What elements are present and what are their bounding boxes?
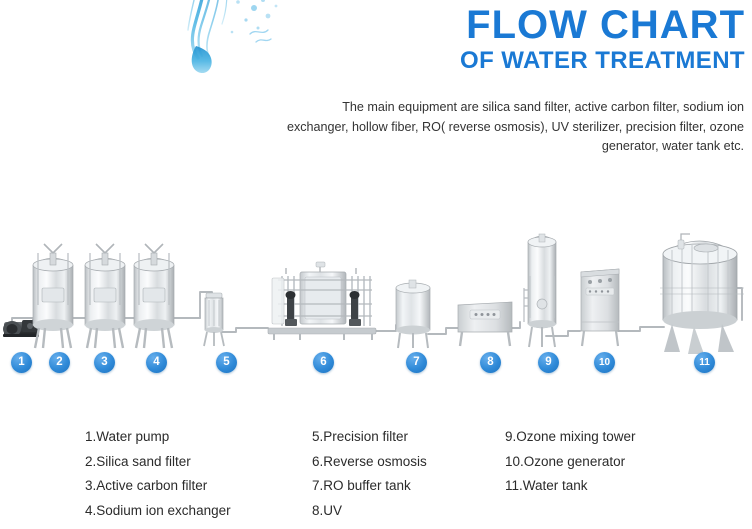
legend-column-1: 1.Water pump 2.Silica sand filter 3.Acti… bbox=[85, 425, 231, 523]
step-badge-10[interactable]: 10 bbox=[594, 352, 615, 373]
precision-filter-vessel bbox=[204, 293, 224, 346]
legend-item-2: 2.Silica sand filter bbox=[85, 450, 231, 475]
legend-item-4: 4.Sodium ion exchanger bbox=[85, 499, 231, 524]
legend-column-2: 5.Precision filter 6.Reverse osmosis 7.R… bbox=[312, 425, 427, 523]
sodium-ion-exchanger-tank bbox=[134, 244, 174, 348]
step-badges: 1 2 3 4 5 6 7 8 9 10 11 bbox=[0, 352, 752, 382]
legend: 1.Water pump 2.Silica sand filter 3.Acti… bbox=[0, 425, 752, 529]
ozone-generator-cabinet bbox=[581, 269, 619, 346]
legend-item-11: 11.Water tank bbox=[505, 474, 636, 499]
active-carbon-filter-tank bbox=[85, 244, 125, 348]
ro-buffer-tank-vessel bbox=[396, 280, 430, 348]
step-badge-5[interactable]: 5 bbox=[216, 352, 237, 373]
description-text: The main equipment are silica sand filte… bbox=[278, 98, 744, 157]
step-badge-9[interactable]: 9 bbox=[538, 352, 559, 373]
page-title: FLOW CHART bbox=[300, 4, 745, 46]
step-badge-3[interactable]: 3 bbox=[94, 352, 115, 373]
step-badge-2[interactable]: 2 bbox=[49, 352, 70, 373]
ozone-mixing-tower-vessel bbox=[524, 234, 556, 347]
page-subtitle: OF WATER TREATMENT bbox=[300, 48, 745, 74]
uv-sterilizer-unit bbox=[458, 302, 512, 346]
step-badge-6[interactable]: 6 bbox=[313, 352, 334, 373]
silica-sand-filter-tank bbox=[33, 244, 73, 348]
legend-item-10: 10.Ozone generator bbox=[505, 450, 636, 475]
legend-item-9: 9.Ozone mixing tower bbox=[505, 425, 636, 450]
legend-item-3: 3.Active carbon filter bbox=[85, 474, 231, 499]
water-splash-icon bbox=[168, 0, 298, 100]
legend-item-5: 5.Precision filter bbox=[312, 425, 427, 450]
step-badge-8[interactable]: 8 bbox=[480, 352, 501, 373]
legend-item-8: 8.UV bbox=[312, 499, 427, 524]
water-storage-tank bbox=[660, 234, 744, 354]
equipment-diagram bbox=[0, 200, 752, 355]
legend-item-1: 1.Water pump bbox=[85, 425, 231, 450]
step-badge-4[interactable]: 4 bbox=[146, 352, 167, 373]
reverse-osmosis-skid bbox=[268, 262, 376, 340]
legend-item-7: 7.RO buffer tank bbox=[312, 474, 427, 499]
step-badge-1[interactable]: 1 bbox=[11, 352, 32, 373]
step-badge-7[interactable]: 7 bbox=[406, 352, 427, 373]
legend-column-3: 9.Ozone mixing tower 10.Ozone generator … bbox=[505, 425, 636, 499]
flow-chart-page: FLOW CHART OF WATER TREATMENT The main e… bbox=[0, 0, 752, 529]
step-badge-11[interactable]: 11 bbox=[694, 352, 715, 373]
ro-high-pressure-pump-right bbox=[349, 291, 361, 326]
legend-item-6: 6.Reverse osmosis bbox=[312, 450, 427, 475]
ro-high-pressure-pump-left bbox=[285, 291, 297, 326]
